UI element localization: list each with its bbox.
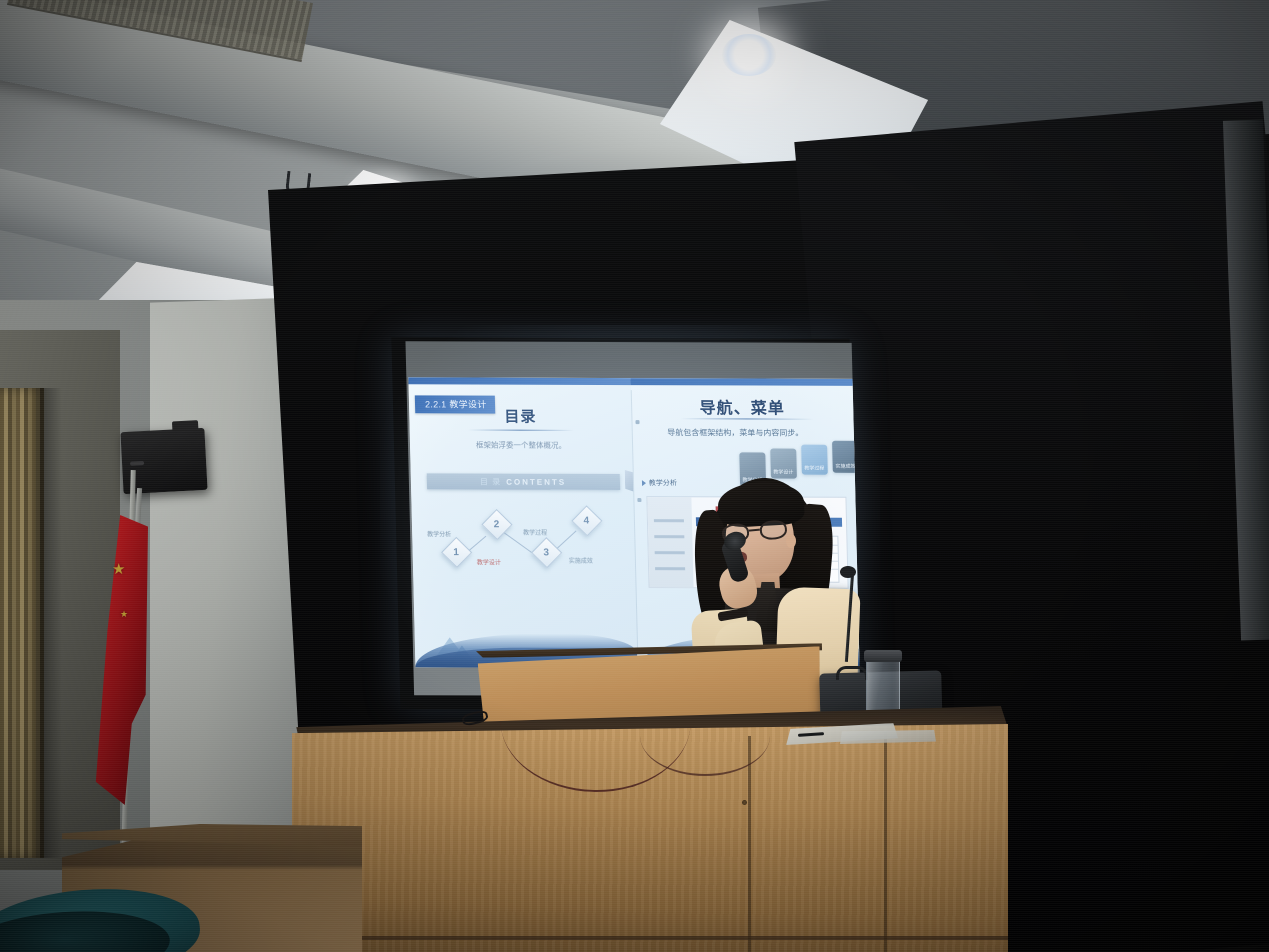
table-seam xyxy=(748,736,751,952)
slide-topbar-right xyxy=(630,378,852,386)
lens-right xyxy=(759,519,788,540)
flag-star-icon: ★ xyxy=(112,562,125,577)
contents-ribbon: 目 录 CONTENTS xyxy=(426,473,620,490)
bullet-dot-icon xyxy=(636,420,640,424)
microphone-stand-head-icon xyxy=(840,566,856,578)
step-number: 4 xyxy=(584,515,590,526)
wall-pillar xyxy=(150,297,300,902)
step-diamond: 3 xyxy=(531,537,562,568)
glasses-bridge xyxy=(749,529,760,532)
webshot-sidebar xyxy=(648,497,694,587)
slide-left-subtitle: 框架始浮委一个整体概况。 xyxy=(437,439,606,451)
slide-topbar xyxy=(408,377,630,385)
heading-rule xyxy=(467,429,574,430)
webshot-sidebar-item xyxy=(654,535,685,538)
step-number: 1 xyxy=(454,547,460,558)
bullet-dot-icon xyxy=(638,498,642,502)
bottle-cap-icon xyxy=(864,650,902,662)
curtain-shadow xyxy=(36,388,62,858)
webshot-sidebar-item xyxy=(655,567,686,570)
contents-label-en: CONTENTS xyxy=(506,477,566,486)
step-label: 实施成效 xyxy=(569,556,593,565)
lecture-hall-photo: ★ ★ 2.2.1 教学设计 目录 框架始浮委一个整体概况。 目 录 CONTE… xyxy=(0,0,1269,952)
webshot-sidebar-item xyxy=(653,519,684,522)
light-bulb-icon xyxy=(722,34,776,76)
triangle-bullet-icon xyxy=(642,480,646,486)
slide-right-body: 导航包含框架结构，菜单与内容同步。 xyxy=(667,426,832,440)
slide-right-heading: 导航、菜单 xyxy=(631,394,854,419)
slide-left: 2.2.1 教学设计 目录 框架始浮委一个整体概况。 目 录 CONTENTS … xyxy=(408,377,637,668)
webshot-sidebar-item xyxy=(654,551,685,554)
step-label: 教学分析 xyxy=(427,529,451,538)
bag-handle xyxy=(836,666,868,680)
steps-diagram: 1 2 3 4 教学分析 教学设计 教学过程 实施成效 xyxy=(420,505,626,576)
step-label: 教学过程 xyxy=(523,528,547,537)
step-number: 3 xyxy=(544,547,550,558)
speaker-led-icon xyxy=(130,461,144,466)
panel-label: 教学分析 xyxy=(642,478,677,488)
step-label: 教学设计 xyxy=(477,557,501,566)
heading-rule-right xyxy=(680,418,813,419)
panel-label-text: 教学分析 xyxy=(649,478,677,488)
nav-card-label: 实施成效 xyxy=(835,463,855,470)
step-diamond: 4 xyxy=(571,505,602,536)
table-base-trim xyxy=(292,936,1008,940)
slide-left-heading: 目录 xyxy=(409,405,632,427)
step-diamond: 1 xyxy=(441,537,472,568)
table-seam xyxy=(884,732,887,952)
table-knob xyxy=(742,800,747,805)
flag-star-icon-small: ★ xyxy=(120,610,128,619)
step-number: 2 xyxy=(494,519,500,530)
contents-label-cn: 目 录 xyxy=(480,476,502,487)
